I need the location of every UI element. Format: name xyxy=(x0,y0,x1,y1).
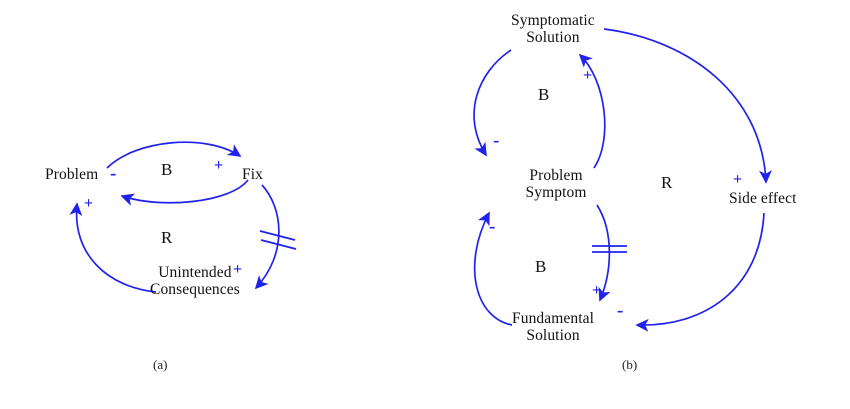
node-label-symptomatic-solution: Symptomatic Solution xyxy=(511,12,595,46)
link-unintended-to-problem xyxy=(77,204,156,292)
loop-label-balancing-a: B xyxy=(161,160,172,180)
loop-label-reinforcing-a: R xyxy=(161,228,172,248)
link-fix-to-unintended xyxy=(256,185,279,288)
link-fix-to-problem xyxy=(122,180,248,203)
causal-links-layer xyxy=(0,0,850,409)
loop-label-balancing-b-top: B xyxy=(538,85,549,105)
polarity-minus-symptomatic-to-problem: - xyxy=(493,133,499,149)
polarity-plus-unintended-to-problem: + xyxy=(84,196,93,212)
polarity-plus-problem-to-fix: + xyxy=(214,158,223,174)
link-symptomatic-to-side-effect xyxy=(604,29,766,182)
polarity-plus-to-side-effect: + xyxy=(733,172,742,188)
polarity-plus-fix-to-unintended: + xyxy=(233,262,242,278)
caption-a: (a) xyxy=(153,357,167,373)
loop-label-reinforcing-b: R xyxy=(661,173,672,193)
node-label-fundamental-solution: Fundamental Solution xyxy=(512,310,594,344)
diagram-b-links xyxy=(474,29,766,325)
node-label-unintended-consequences: Unintended Consequences xyxy=(150,264,240,298)
link-side-effect-to-fundamental xyxy=(637,213,764,325)
node-label-side-effect: Side effect xyxy=(729,190,797,207)
polarity-minus-side-effect-to-fundamental: - xyxy=(617,303,623,319)
node-label-problem-symptom: Problem Symptom xyxy=(521,167,591,201)
node-label-problem-a: Problem xyxy=(45,166,98,183)
caption-b: (b) xyxy=(622,357,637,373)
polarity-plus-to-fundamental: + xyxy=(592,283,601,299)
loop-label-balancing-b-bottom: B xyxy=(535,257,546,277)
node-label-fix: Fix xyxy=(242,166,263,183)
causal-loop-figure: Problem Fix Unintended Consequences B R … xyxy=(0,0,850,409)
polarity-minus-fundamental-to-problem: - xyxy=(489,219,495,235)
polarity-minus-fix-to-problem: - xyxy=(110,166,116,182)
polarity-plus-to-symptomatic: + xyxy=(583,68,592,84)
